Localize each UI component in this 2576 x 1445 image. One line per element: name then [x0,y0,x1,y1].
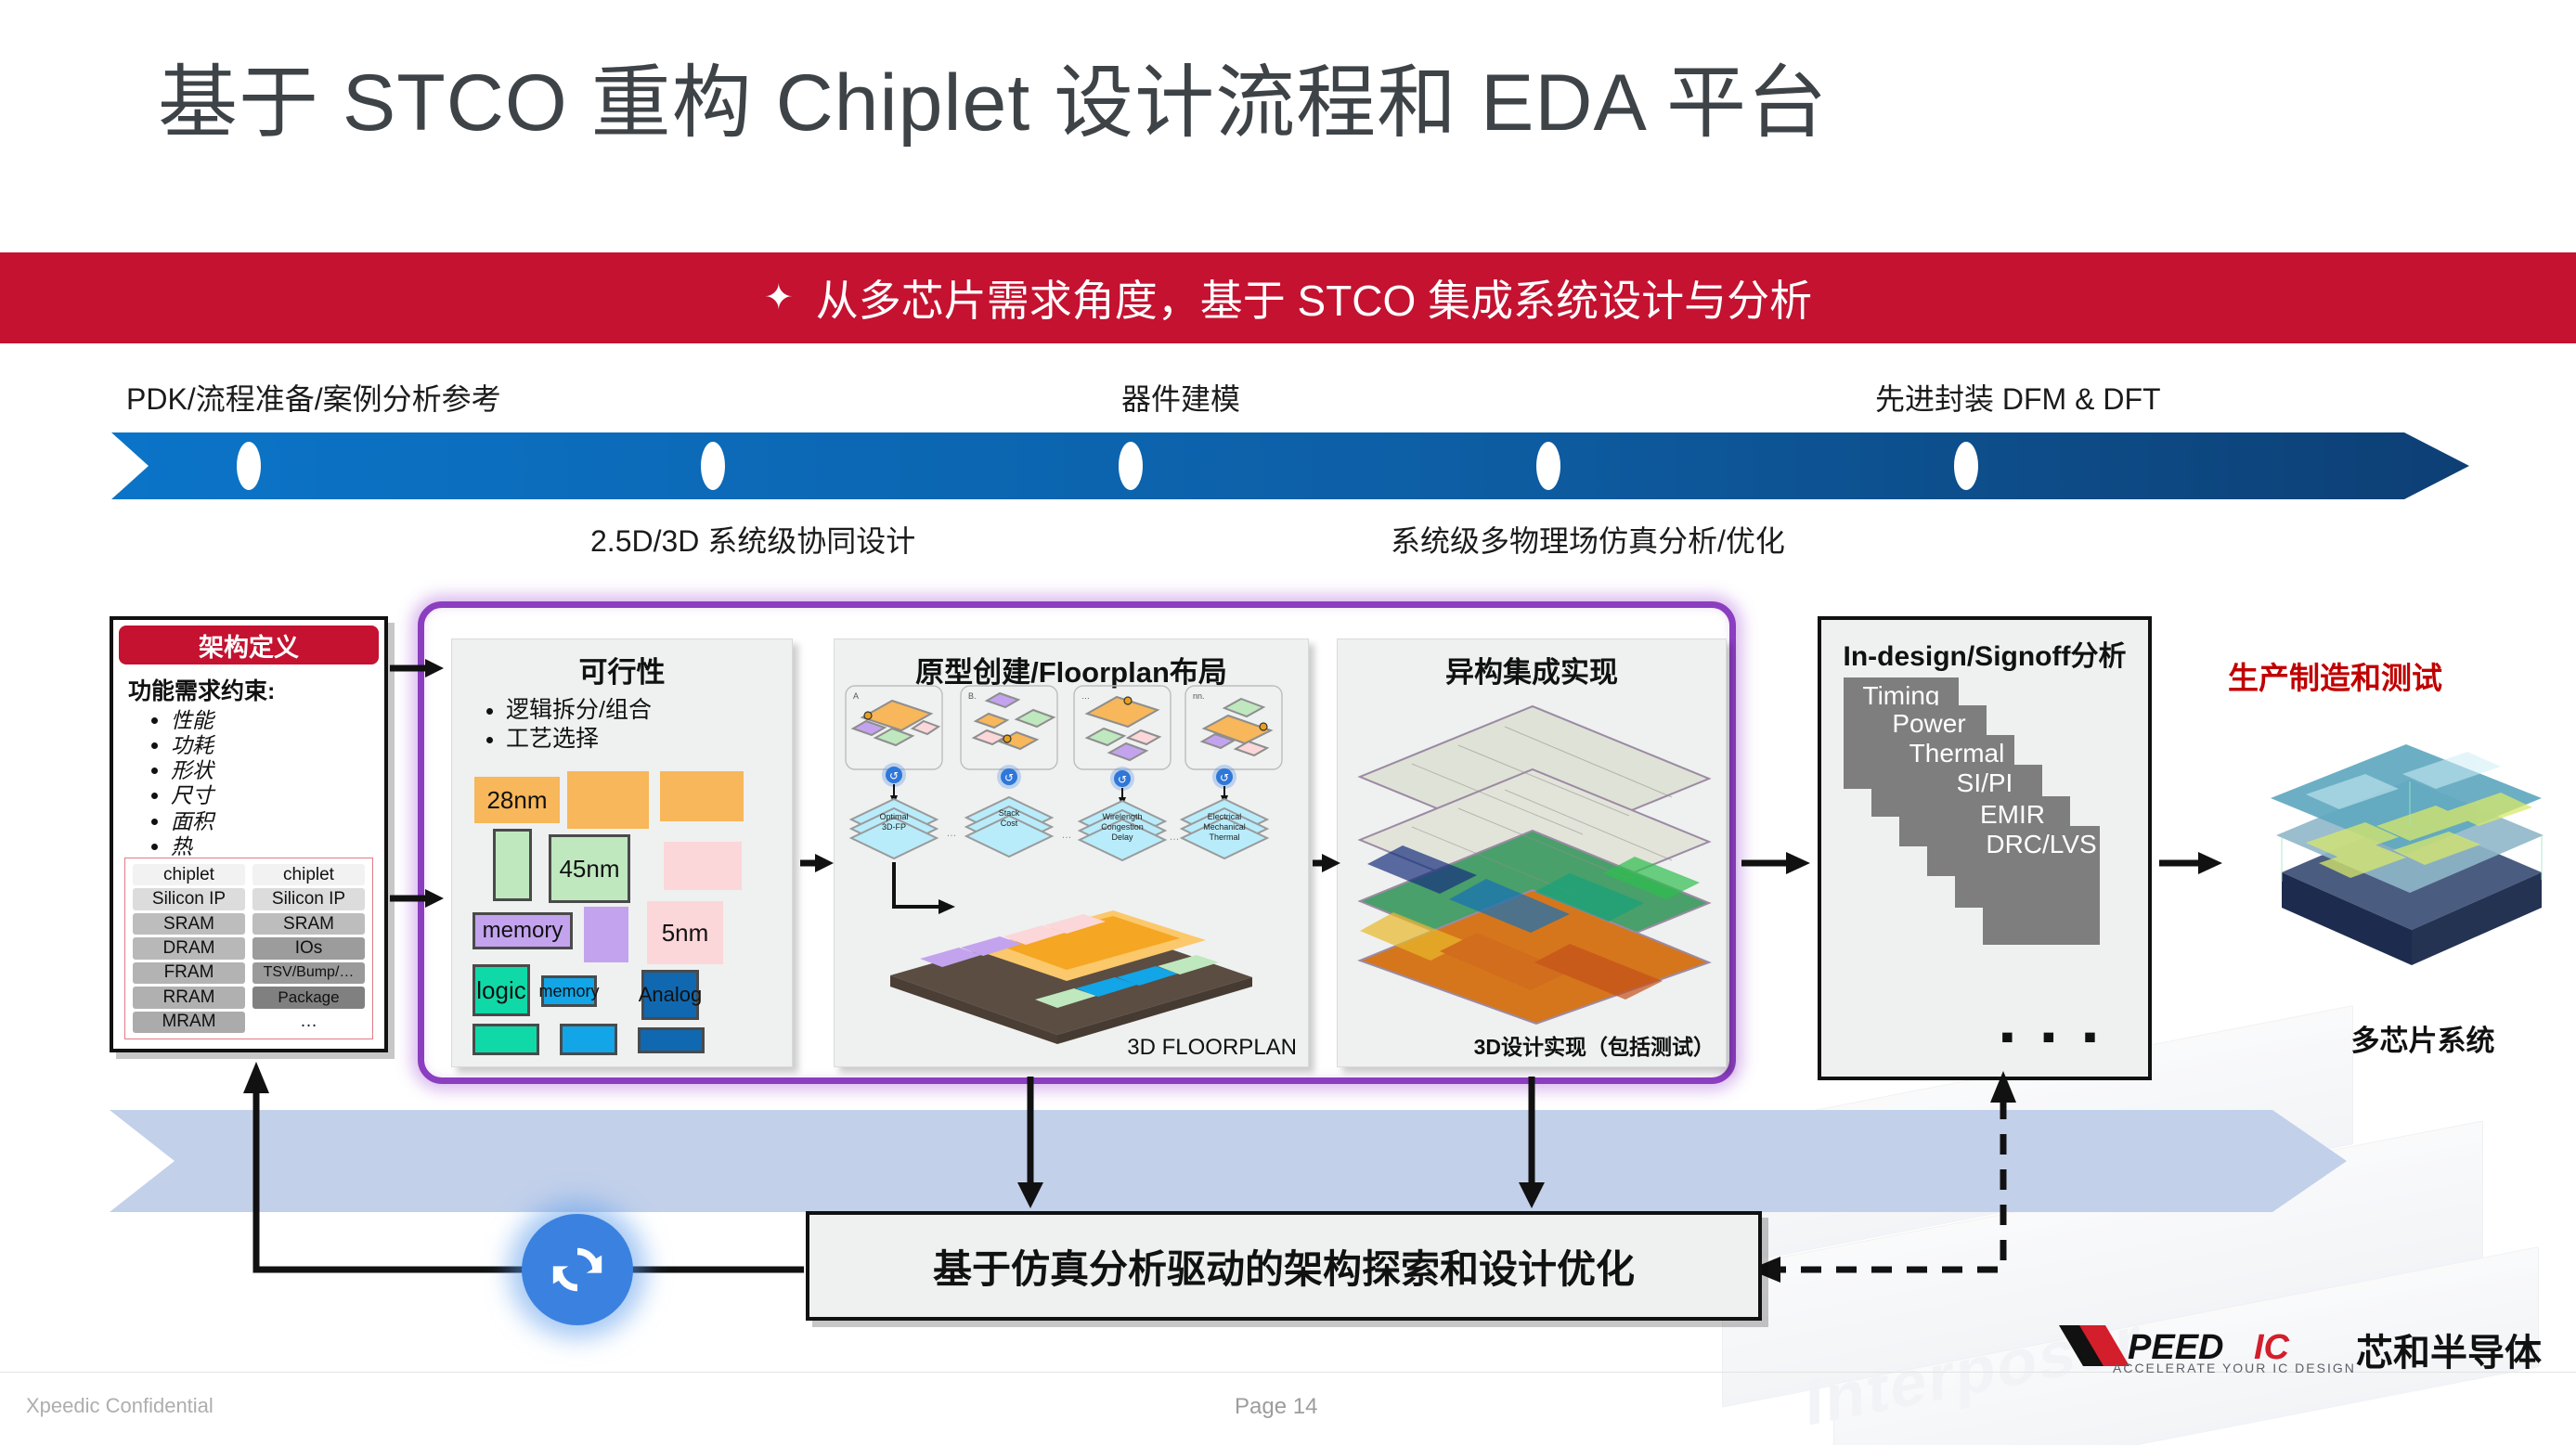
svg-text:Mechanical: Mechanical [1203,822,1246,832]
tech-block: 45nm [549,834,630,903]
chip-cell: SRAM [133,913,245,935]
svg-text:↺: ↺ [1220,771,1229,784]
architecture-definition-panel: 架构定义 功能需求约束: 性能 功耗 形状 尺寸 面积 热 … chiplet … [110,616,388,1052]
tech-block [493,829,532,901]
svg-text:…: … [1062,830,1072,841]
chip-cell: TSV/Bump/… [252,962,365,984]
chip-cell: SRAM [252,913,365,935]
tech-block [560,1024,617,1055]
slide-title: 基于 STCO 重构 Chiplet 设计流程和 EDA 平台 [158,37,2386,153]
die-stack-graphic [1338,682,1728,1026]
svg-text:↺: ↺ [1004,771,1014,784]
tech-block [664,842,742,890]
slide-canvas: Interposer 基于 STCO 重构 Chiplet 设计流程和 EDA … [0,0,2576,1445]
list-item: 热 [171,834,384,859]
feasibility-panel: 可行性 逻辑拆分/组合 工艺选择 28nm 45nm memory 5nm lo… [451,639,793,1067]
timeline-label-top-3: 先进封装 DFM & DFT [1875,376,2161,419]
list-item: 工艺选择 [506,725,792,754]
list-item: 功耗 [171,733,384,758]
svg-text:…: … [1170,832,1180,843]
list-item: 形状 [171,758,384,783]
signoff-card[interactable]: DRC/LVS [1983,826,2100,945]
svg-text:nn.: nn. [1193,691,1205,701]
logo-tagline: ACCELERATE YOUR IC DESIGN [2113,1361,2356,1375]
chiplet-inventory-grid: chiplet Silicon IP SRAM DRAM FRAM RRAM M… [124,858,373,1039]
manufacturing-title: 生产制造和测试 [2228,653,2576,698]
optimization-bar: 基于仿真分析驱动的架构探索和设计优化 [806,1211,1762,1321]
signoff-title: In-design/Signoff分析 [1821,633,2148,674]
tech-block: 5nm [647,901,723,964]
tech-block [567,771,649,829]
tech-block: 28nm [474,777,560,823]
tech-block: logic [472,964,530,1016]
svg-text:Delay: Delay [1111,832,1133,842]
chip-cell: Silicon IP [133,888,245,910]
svg-text:Optimal: Optimal [879,812,908,821]
svg-text:…: … [947,828,957,839]
list-item: 性能 [171,708,384,733]
svg-text:↺: ↺ [1118,773,1127,786]
section-banner: ✦ 从多芯片需求角度，基于 STCO 集成系统设计与分析 [0,252,2576,343]
tech-block: memory [541,975,597,1007]
timeline-label-bottom-1: 2.5D/3D 系统级协同设计 [590,518,915,561]
list-item: 逻辑拆分/组合 [506,696,792,725]
tech-block: memory [472,912,573,949]
manufacturing-caption: 多芯片系统 [2265,1017,2576,1059]
architecture-header: 架构定义 [119,626,379,664]
timeline-label-bottom-2: 系统级多物理场仿真分析/优化 [1391,518,1785,561]
chiplet-column-right: chiplet Silicon IP SRAM IOs TSV/Bump/… P… [252,864,365,1033]
svg-text:↺: ↺ [889,769,899,782]
tech-block [638,1027,705,1053]
chip-cell: Silicon IP [252,888,365,910]
svg-text:A: A [853,691,859,701]
tech-block [660,771,744,821]
tech-block [584,907,628,962]
tech-block [472,1024,539,1055]
timeline-label-top-2: 器件建模 [1121,376,1240,419]
architecture-subtitle: 功能需求约束: [128,673,384,706]
chip-cell: … [252,1012,365,1033]
optimization-text: 基于仿真分析驱动的架构探索和设计优化 [933,1238,1635,1295]
tech-block: Analog [641,970,699,1020]
footer-page-number: Page 14 [1235,1394,1317,1420]
xpeedic-wordmark: PEED IC ACCELERATE YOUR IC DESIGN [2057,1320,2336,1378]
section-banner-text: 从多芯片需求角度，基于 STCO 集成系统设计与分析 [816,267,1812,329]
svg-text:Thermal: Thermal [1209,832,1239,842]
floorplan-panel: 原型创建/Floorplan布局 [834,639,1309,1067]
heterogeneous-caption: 3D设计实现（包括测试） [1474,1029,1715,1061]
floorplan-options-graphic: AB. …nn. ↺ ↺ ↺ ↺ [835,680,1310,1051]
svg-text:…: … [1081,691,1090,701]
svg-text:B.: B. [968,691,977,701]
timeline-label-top-1: PDK/流程准备/案例分析参考 [126,376,501,419]
list-item: 面积 [171,809,384,834]
chip-cell: IOs [252,937,365,959]
feasibility-title: 可行性 [452,649,792,690]
chiplet-column-left: chiplet Silicon IP SRAM DRAM FRAM RRAM M… [133,864,245,1033]
list-item: 尺寸 [171,783,384,808]
feedback-band [110,1110,2347,1212]
refresh-cycle-icon[interactable] [522,1214,633,1325]
footer-confidential: Xpeedic Confidential [26,1394,214,1418]
chip-cell: Package [252,987,365,1008]
svg-text:Cost: Cost [1001,819,1018,828]
chip-cell: chiplet [252,864,365,885]
signoff-more-indicator: ▪ ▪ ▪ [2000,1029,2105,1045]
svg-text:Electrical: Electrical [1208,812,1242,821]
feasibility-bullets: 逻辑拆分/组合 工艺选择 [489,696,792,755]
svg-text:Stack: Stack [999,808,1020,818]
floorplan-caption: 3D FLOORPLAN [1127,1035,1297,1061]
chip-cell: FRAM [133,962,245,984]
refresh-cycle-glyph [537,1230,617,1310]
signoff-analysis-panel: In-design/Signoff分析 Timing Power Thermal… [1818,616,2152,1080]
chip-cell: RRAM [133,987,245,1008]
svg-text:Wirelength: Wirelength [1102,812,1142,821]
chip-cell: DRAM [133,937,245,959]
logo-chinese-name: 芯和半导体 [2356,1322,2542,1376]
heterogeneous-integration-panel: 异构集成实现 3D [1337,639,1727,1067]
process-timeline [111,432,2469,499]
svg-text:3D-FP: 3D-FP [882,822,906,832]
multi-chip-package-graphic [2217,733,2576,1012]
diamond-bullet-icon: ✦ [764,280,794,316]
chip-cell: MRAM [133,1012,245,1033]
company-logo: PEED IC ACCELERATE YOUR IC DESIGN 芯和半导体 [2057,1320,2542,1378]
chip-cell: chiplet [133,864,245,885]
svg-text:Congestion: Congestion [1101,822,1144,832]
